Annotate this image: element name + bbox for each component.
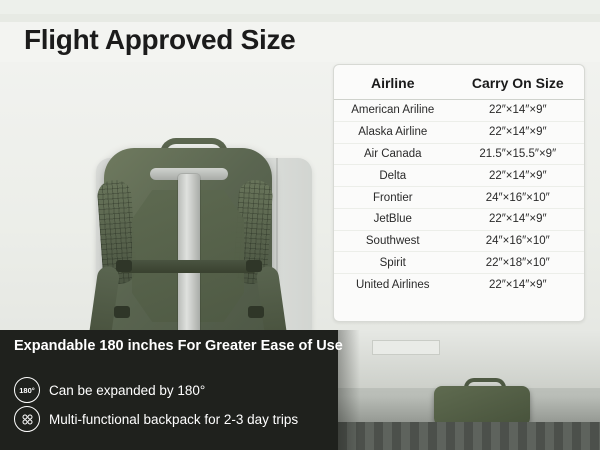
cell-airline: Air Canada [334,143,452,165]
strap-clip [246,260,262,272]
scene-baggage-belt [338,422,600,450]
cell-size: 21.5″×15.5″×9″ [452,143,585,165]
table-row: Frontier 24″×16″×10″ [334,187,584,209]
trolley-sleeve [178,174,200,330]
backpack-image [86,134,290,330]
feature-title: Expandable 180 inches For Greater Ease o… [14,337,374,356]
cell-airline: Frontier [334,187,452,209]
table-row: JetBlue 22″×14″×9″ [334,208,584,230]
cell-airline: JetBlue [334,208,452,230]
cell-size: 22″×14″×9″ [452,100,585,122]
strap-clip [248,306,264,318]
carry-on-size-table: Airline Carry On Size American Ariline 2… [334,65,584,295]
table-row: Southwest 24″×16″×10″ [334,230,584,252]
product-infographic: Flight Approved Size [0,0,600,450]
strap-clip [114,306,130,318]
multi-compartment-icon [14,406,40,432]
table-row: Spirit 22″×18″×10″ [334,252,584,274]
cell-size: 22″×18″×10″ [452,252,585,274]
table-header-row: Airline Carry On Size [334,65,584,100]
cell-airline: Spirit [334,252,452,274]
cell-airline: Alaska Airline [334,121,452,143]
table-row: Delta 22″×14″×9″ [334,165,584,187]
cell-size: 24″×16″×10″ [452,230,585,252]
feature-item-multifunctional: Multi-functional backpack for 2-3 day tr… [14,406,298,432]
table-row: Alaska Airline 22″×14″×9″ [334,121,584,143]
cell-airline: American Ariline [334,100,452,122]
cell-size: 22″×14″×9″ [452,165,585,187]
feature-item-label: Multi-functional backpack for 2-3 day tr… [49,412,298,427]
rotate-180-badge-icon: 180° [14,377,40,403]
table-header-airline: Airline [334,65,452,100]
feature-scene-image [338,330,600,450]
table-row: Air Canada 21.5″×15.5″×9″ [334,143,584,165]
table-header-carry-on-size: Carry On Size [452,65,585,100]
cell-size: 24″×16″×10″ [452,187,585,209]
cell-airline: Southwest [334,230,452,252]
feature-item-expand: 180° Can be expanded by 180° [14,377,205,403]
page-title: Flight Approved Size [24,24,295,56]
carry-on-size-table-card: Airline Carry On Size American Ariline 2… [333,64,585,322]
cell-size: 22″×14″×9″ [452,274,585,295]
scene-sign [372,340,440,355]
cell-size: 22″×14″×9″ [452,121,585,143]
table-row: United Airlines 22″×14″×9″ [334,274,584,295]
cell-size: 22″×14″×9″ [452,208,585,230]
top-band-accent [0,14,600,22]
strap-clip [116,260,132,272]
scene-bag [434,386,530,426]
chest-strap [120,260,256,273]
cell-airline: United Airlines [334,274,452,295]
table-row: American Ariline 22″×14″×9″ [334,100,584,122]
cell-airline: Delta [334,165,452,187]
feature-item-label: Can be expanded by 180° [49,383,205,398]
